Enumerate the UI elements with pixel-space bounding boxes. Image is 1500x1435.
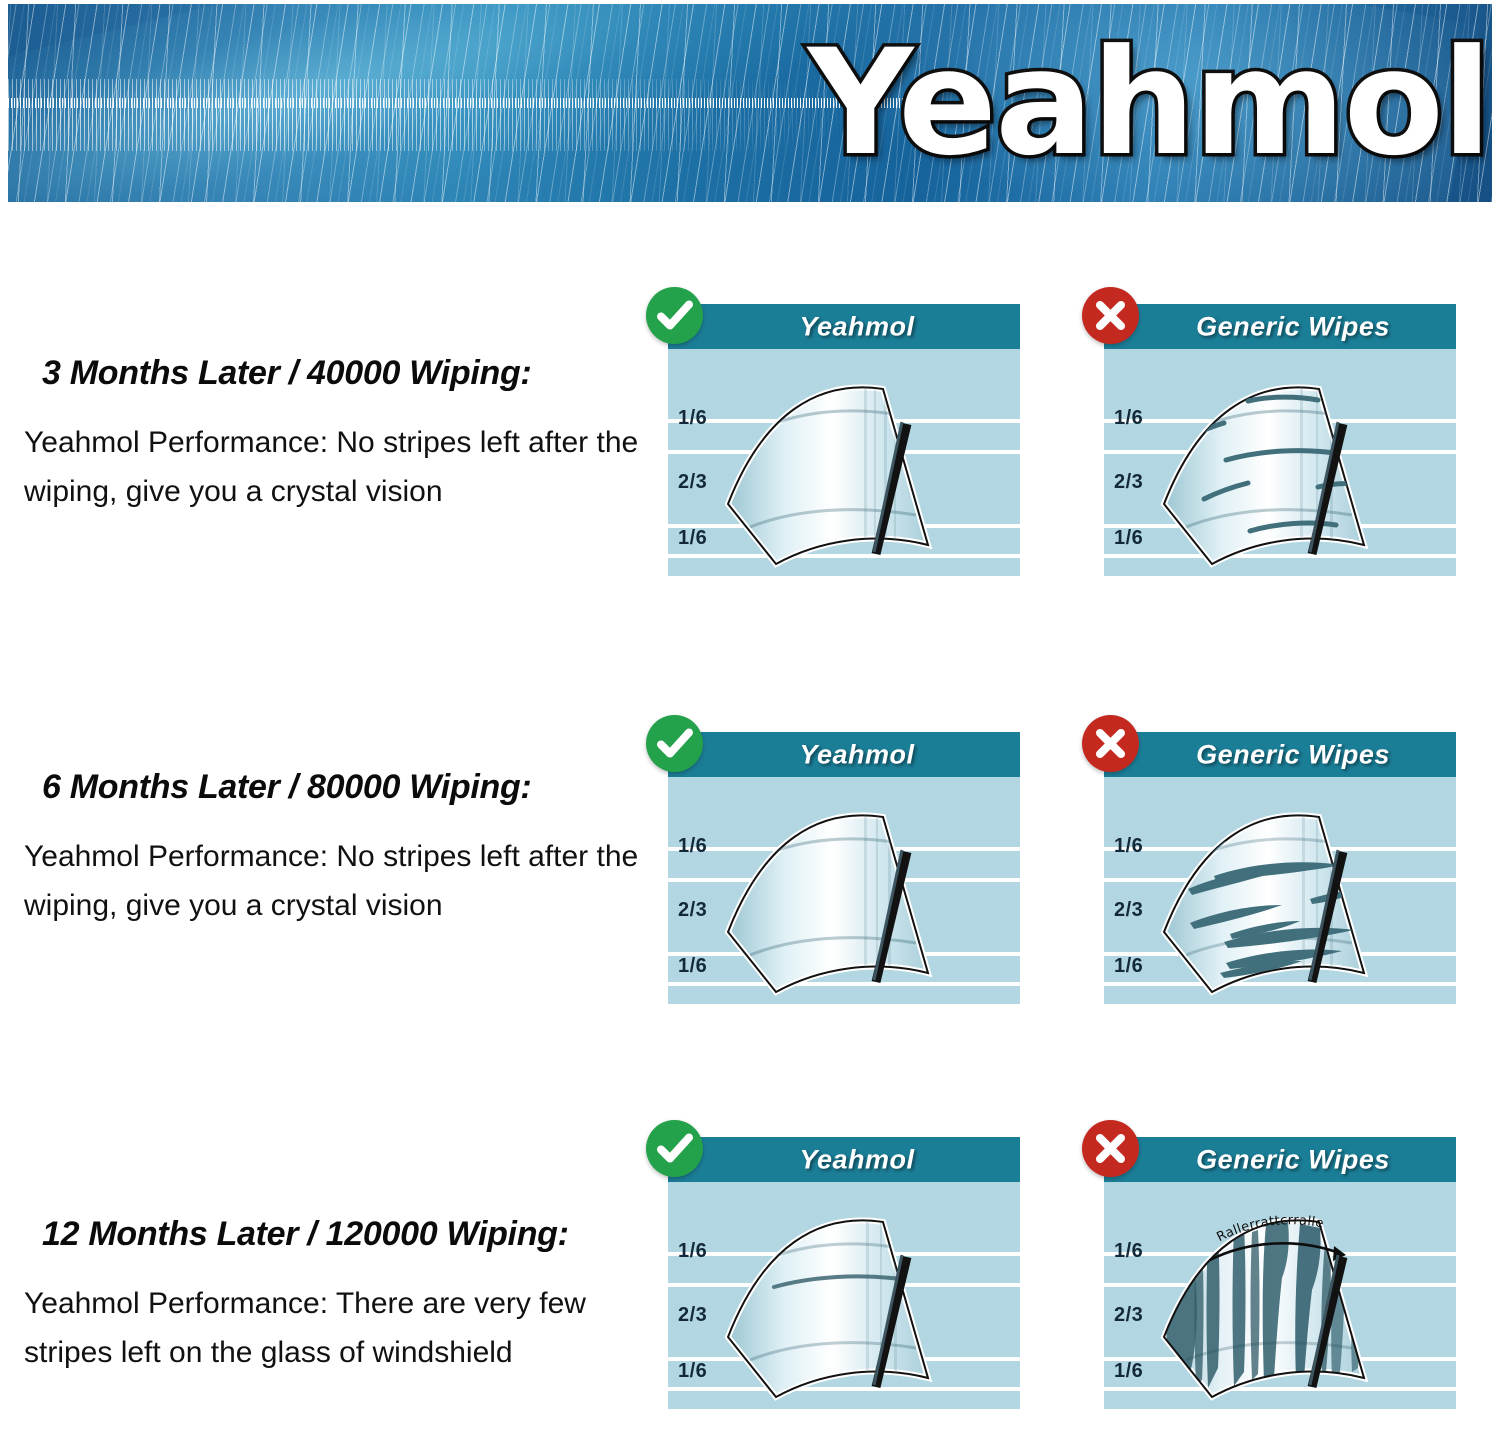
windshield-diagram	[668, 1182, 1020, 1409]
panel-yeahmol-1[interactable]: Yeahmol	[668, 304, 1020, 576]
windshield-diagram: Rallerrattcrralle	[1104, 1182, 1456, 1409]
scale-label-top: 1/6	[1114, 835, 1143, 858]
x-circle-icon	[1082, 715, 1139, 772]
brand-title: Yeahmol	[808, 30, 1490, 176]
check-circle-icon	[646, 1120, 703, 1177]
panel-body-1-bad: 1/6 2/3 1/6	[1104, 349, 1456, 576]
scale-label-bottom: 1/6	[678, 1360, 707, 1383]
section-text-3: 12 Months Later / 120000 Wiping: Yeahmol…	[24, 1215, 644, 1377]
scale-label-middle: 2/3	[678, 899, 707, 922]
panel-body-3-bad: Rallerrattcrralle 1/6 2/3 1/6	[1104, 1182, 1456, 1409]
panel-title: Generic Wipes	[1104, 739, 1456, 770]
scale-label-middle: 2/3	[1114, 471, 1143, 494]
section-heading-1: 3 Months Later / 40000 Wiping:	[42, 354, 644, 393]
scale-label-middle: 2/3	[1114, 1304, 1143, 1327]
panel-generic-3[interactable]: Generic Wipes	[1104, 1137, 1456, 1409]
scale-label-middle: 2/3	[678, 471, 707, 494]
scale-label-top: 1/6	[678, 407, 707, 430]
section-body-1: Yeahmol Performance: No stripes left aft…	[24, 419, 644, 516]
panel-title: Generic Wipes	[1104, 311, 1456, 342]
check-circle-icon	[646, 715, 703, 772]
windshield-diagram	[668, 777, 1020, 1004]
section-heading-2: 6 Months Later / 80000 Wiping:	[42, 768, 644, 807]
panel-body-3-good: 1/6 2/3 1/6	[668, 1182, 1020, 1409]
x-circle-icon	[1082, 287, 1139, 344]
panel-yeahmol-3[interactable]: Yeahmol	[668, 1137, 1020, 1409]
scale-label-bottom: 1/6	[678, 955, 707, 978]
scale-label-middle: 2/3	[678, 1304, 707, 1327]
panel-generic-2[interactable]: Generic Wipes	[1104, 732, 1456, 1004]
panel-title: Yeahmol	[668, 1144, 1020, 1175]
windshield-diagram	[668, 349, 1020, 576]
panel-body-1-good: 1/6 2/3 1/6	[668, 349, 1020, 576]
check-circle-icon	[646, 287, 703, 344]
panel-generic-1[interactable]: Generic Wipes	[1104, 304, 1456, 576]
section-heading-3: 12 Months Later / 120000 Wiping:	[42, 1215, 644, 1254]
scale-label-top: 1/6	[1114, 1240, 1143, 1263]
panel-header-3-good: Yeahmol	[668, 1137, 1020, 1182]
scale-label-bottom: 1/6	[678, 527, 707, 550]
panel-title: Yeahmol	[668, 739, 1020, 770]
waveform-core	[8, 98, 928, 108]
panel-title: Yeahmol	[668, 311, 1020, 342]
panel-header-1-good: Yeahmol	[668, 304, 1020, 349]
panel-body-2-bad: 1/6 2/3 1/6	[1104, 777, 1456, 1004]
section-body-3: Yeahmol Performance: There are very few …	[24, 1280, 644, 1377]
scale-label-bottom: 1/6	[1114, 1360, 1143, 1383]
comparison-row-3: 12 Months Later / 120000 Wiping: Yeahmol…	[0, 1105, 1500, 1435]
panel-header-3-bad: Generic Wipes	[1104, 1137, 1456, 1182]
windshield-diagram	[1104, 349, 1456, 576]
x-circle-icon	[1082, 1120, 1139, 1177]
panel-header-2-bad: Generic Wipes	[1104, 732, 1456, 777]
panel-yeahmol-2[interactable]: Yeahmol	[668, 732, 1020, 1004]
panel-body-2-good: 1/6 2/3 1/6	[668, 777, 1020, 1004]
windshield-diagram	[1104, 777, 1456, 1004]
comparison-row-1: 3 Months Later / 40000 Wiping: Yeahmol P…	[0, 272, 1500, 602]
brand-banner: Yeahmol	[8, 4, 1492, 202]
scale-label-top: 1/6	[1114, 407, 1143, 430]
scale-label-bottom: 1/6	[1114, 955, 1143, 978]
panel-header-2-good: Yeahmol	[668, 732, 1020, 777]
scale-label-top: 1/6	[678, 1240, 707, 1263]
scale-label-bottom: 1/6	[1114, 527, 1143, 550]
panel-header-1-bad: Generic Wipes	[1104, 304, 1456, 349]
scale-label-middle: 2/3	[1114, 899, 1143, 922]
comparison-row-2: 6 Months Later / 80000 Wiping: Yeahmol P…	[0, 700, 1500, 1030]
panel-title: Generic Wipes	[1104, 1144, 1456, 1175]
section-text-1: 3 Months Later / 40000 Wiping: Yeahmol P…	[24, 354, 644, 516]
section-text-2: 6 Months Later / 80000 Wiping: Yeahmol P…	[24, 768, 644, 930]
scale-label-top: 1/6	[678, 835, 707, 858]
section-body-2: Yeahmol Performance: No stripes left aft…	[24, 833, 644, 930]
